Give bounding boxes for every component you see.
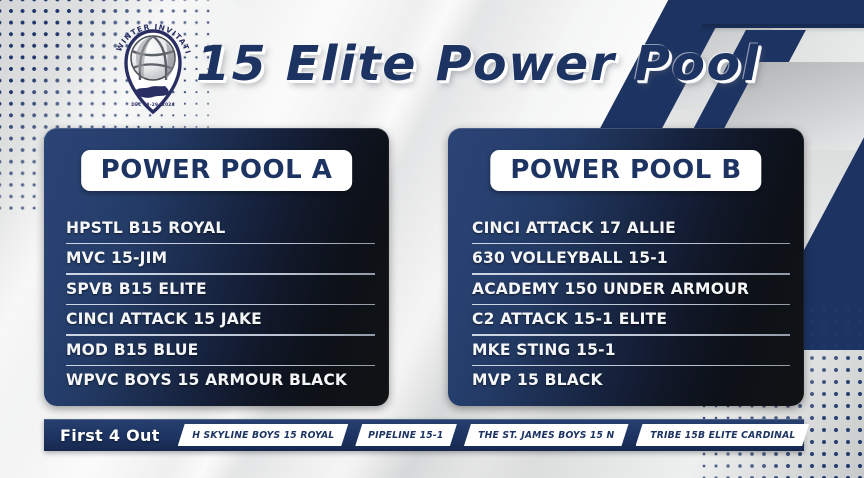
team-name: MVC 15-JIM — [66, 248, 167, 267]
team-name: H SKYLINE BOYS 15 ROYAL — [192, 430, 334, 441]
list-item: WPVC BOYS 15 ARMOUR BLACK — [66, 365, 375, 396]
header: BOYS WINTER INVITATIONAL DEC 28-29, 2024… — [0, 0, 864, 120]
list-item: 630 VOLLEYBALL 15-1 — [472, 243, 790, 274]
team-name: TRIBE 15B ELITE CARDINAL — [650, 430, 795, 441]
first-four-out-chips: H SKYLINE BOYS 15 ROYAL PIPELINE 15-1 TH… — [178, 419, 817, 451]
list-item: CINCI ATTACK 15 JAKE — [66, 304, 375, 335]
list-item: PIPELINE 15-1 — [355, 424, 457, 446]
list-item: C2 ATTACK 15-1 ELITE — [472, 304, 790, 335]
team-name: PIPELINE 15-1 — [368, 430, 443, 441]
pool-b-header-label: POWER POOL B — [510, 157, 741, 183]
pool-a-header-pill: POWER POOL A — [81, 150, 353, 191]
team-name: MKE STING 15-1 — [472, 340, 616, 359]
team-name: MOD B15 BLUE — [66, 340, 198, 359]
list-item: H SKYLINE BOYS 15 ROYAL — [178, 424, 349, 446]
pool-b-header-pill: POWER POOL B — [490, 150, 761, 191]
team-name: SPVB B15 ELITE — [66, 279, 207, 298]
first-four-out-label: First 4 Out — [60, 426, 160, 445]
team-name: HPSTL B15 ROYAL — [66, 218, 225, 237]
list-item: CINCI ATTACK 17 ALLIE — [472, 212, 790, 243]
list-item: ACADEMY 150 UNDER ARMOUR — [472, 273, 790, 304]
team-name: THE ST. JAMES BOYS 15 N — [478, 430, 614, 441]
power-pool-a-panel: POWER POOL A HPSTL B15 ROYAL MVC 15-JIM … — [44, 128, 389, 406]
team-name: MVP 15 BLACK — [472, 370, 603, 389]
team-name: C2 ATTACK 15-1 ELITE — [472, 309, 667, 328]
list-item: MVC 15-JIM — [66, 243, 375, 274]
team-name: 630 VOLLEYBALL 15-1 — [472, 248, 668, 267]
pool-a-team-list: HPSTL B15 ROYAL MVC 15-JIM SPVB B15 ELIT… — [66, 212, 375, 395]
list-item: MOD B15 BLUE — [66, 334, 375, 365]
pool-b-team-list: CINCI ATTACK 17 ALLIE 630 VOLLEYBALL 15-… — [472, 212, 790, 395]
list-item: HPSTL B15 ROYAL — [66, 212, 375, 243]
team-name: CINCI ATTACK 17 ALLIE — [472, 218, 676, 237]
team-name: CINCI ATTACK 15 JAKE — [66, 309, 262, 328]
list-item: TRIBE 15B ELITE CARDINAL — [636, 424, 810, 446]
boys-winter-invitational-logo-icon: BOYS WINTER INVITATIONAL DEC 28-29, 2024 — [110, 11, 196, 117]
graphic-canvas: BOYS WINTER INVITATIONAL DEC 28-29, 2024… — [0, 0, 864, 478]
svg-text:DEC 28-29, 2024: DEC 28-29, 2024 — [131, 102, 174, 107]
team-name: ACADEMY 150 UNDER ARMOUR — [472, 279, 749, 298]
team-name: WPVC BOYS 15 ARMOUR BLACK — [66, 370, 347, 389]
power-pool-b-panel: POWER POOL B CINCI ATTACK 17 ALLIE 630 V… — [448, 128, 804, 406]
page-title: 15 Elite Power Pool — [196, 36, 760, 92]
list-item: MKE STING 15-1 — [472, 334, 790, 365]
pool-a-header-label: POWER POOL A — [101, 157, 333, 183]
list-item: MVP 15 BLACK — [472, 365, 790, 396]
list-item: SPVB B15 ELITE — [66, 273, 375, 304]
first-four-out-bar: First 4 Out H SKYLINE BOYS 15 ROYAL PIPE… — [44, 419, 804, 451]
list-item: THE ST. JAMES BOYS 15 N — [464, 424, 629, 446]
